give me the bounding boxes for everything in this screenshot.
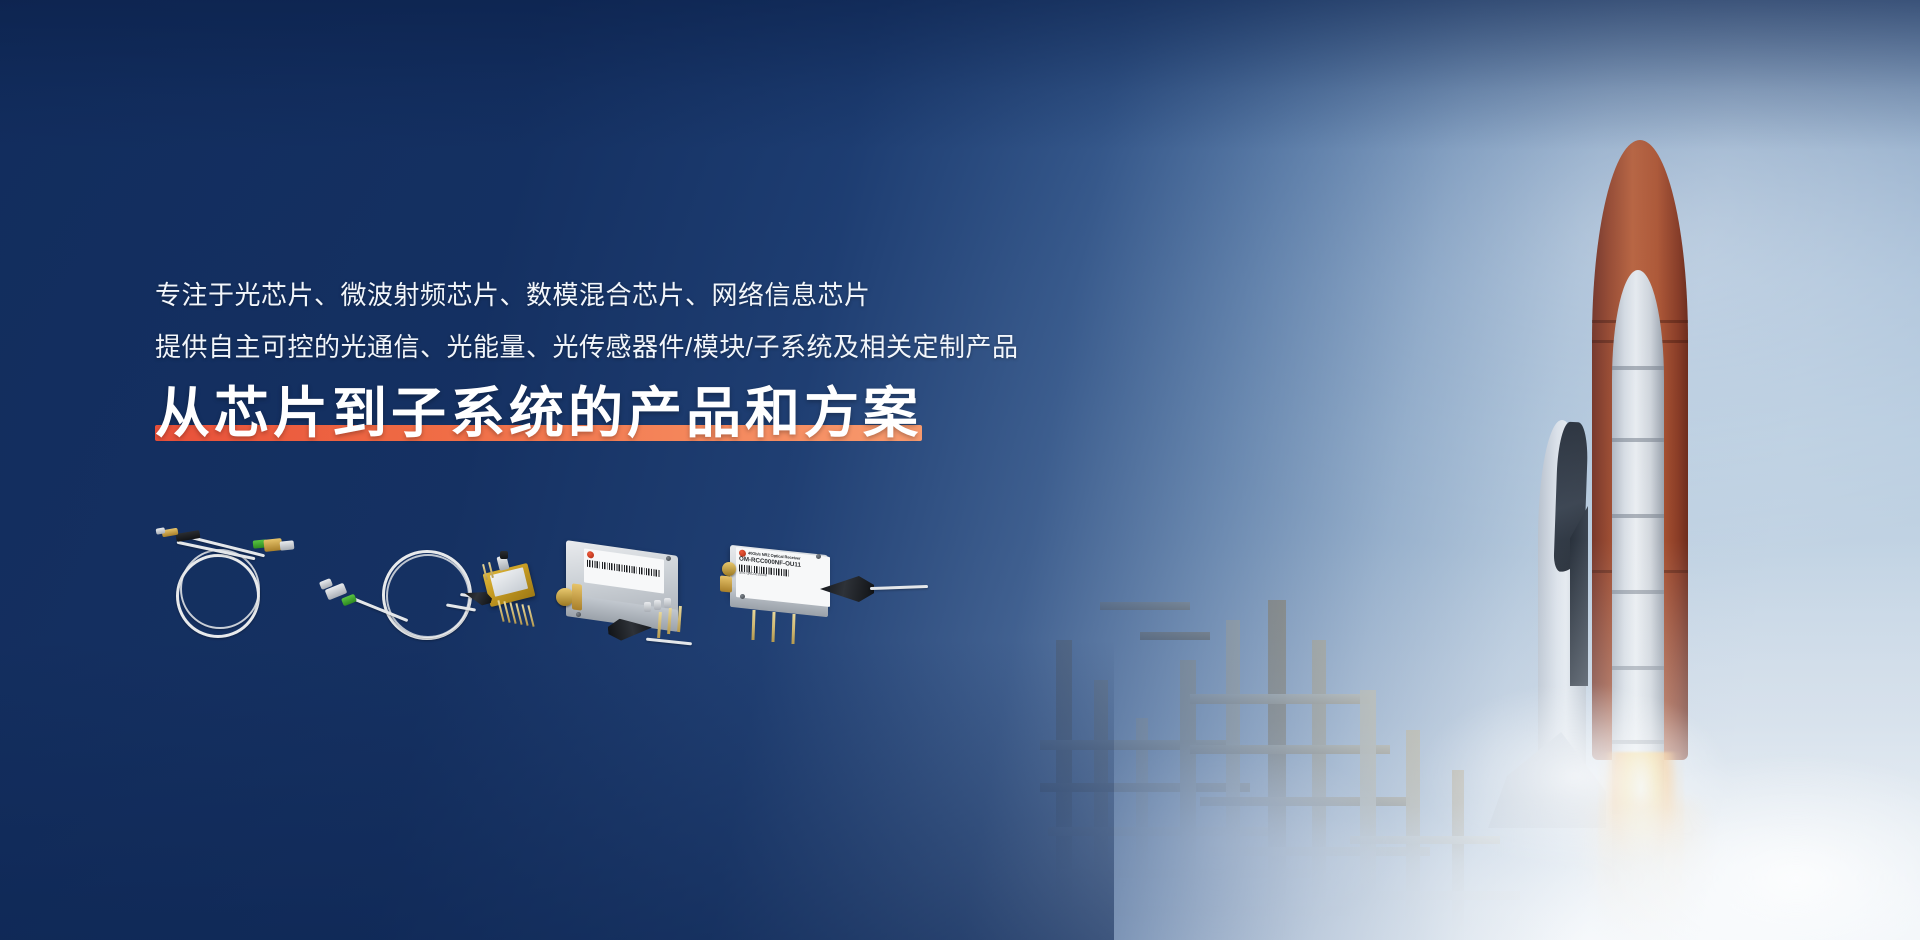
hero-banner: 专注于光芯片、微波射频芯片、数模混合芯片、网络信息芯片 提供自主可控的光通信、光…: [0, 0, 1920, 940]
banner-copy: 专注于光芯片、微波射频芯片、数模混合芯片、网络信息芯片 提供自主可控的光通信、光…: [155, 282, 1155, 443]
product-butterfly-laser-package: [450, 540, 560, 660]
product-fiber-pigtail-coil-1: [150, 518, 310, 638]
banner-subtitle-line-2: 提供自主可控的光通信、光能量、光传感器件/模块/子系统及相关定制产品: [155, 334, 1155, 360]
top-vignette: [0, 0, 1920, 150]
bottom-vignette: [0, 640, 1114, 940]
product-image-strip: 40Gb/s NRZ Optical Receiver OM-RCC000NF-…: [150, 518, 1050, 658]
banner-subtitle-line-1: 专注于光芯片、微波射频芯片、数模混合芯片、网络信息芯片: [155, 282, 1155, 308]
banner-headline: 从芯片到子系统的产品和方案: [155, 384, 922, 443]
module-label-title: [596, 553, 597, 557]
brand-logo-icon: [587, 551, 594, 559]
banner-headline-group: 从芯片到子系统的产品和方案: [155, 384, 922, 443]
product-optical-receiver-module: 40Gb/s NRZ Optical Receiver OM-RCC000NF-…: [720, 536, 930, 656]
product-rf-optical-module-box: [550, 536, 700, 661]
